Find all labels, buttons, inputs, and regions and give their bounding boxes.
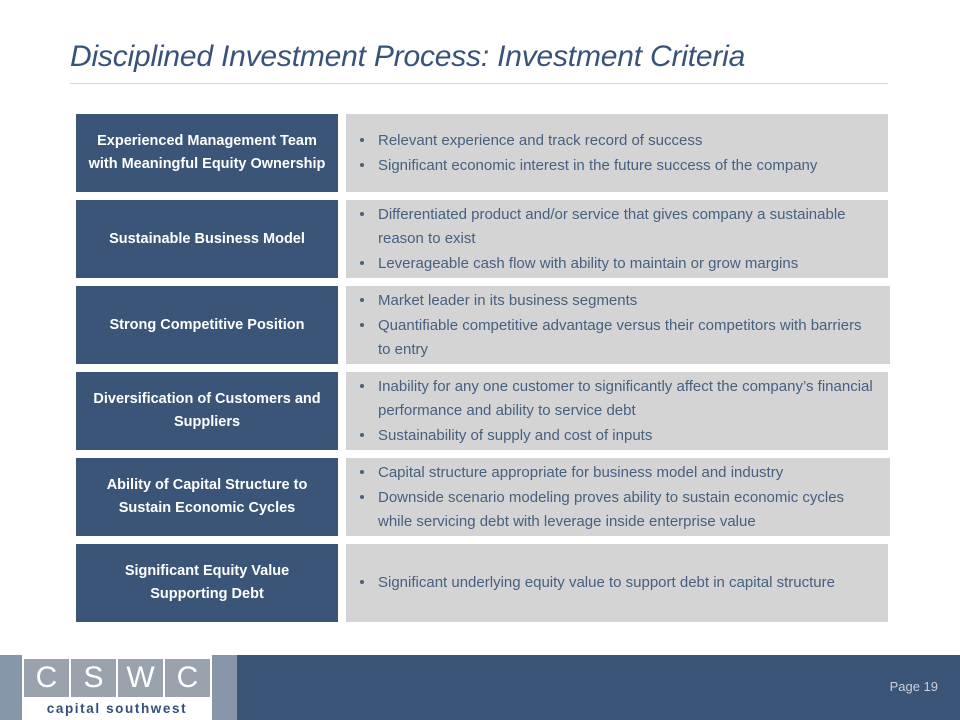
row-gap [338, 286, 346, 364]
page-number: Page 19 [890, 679, 938, 695]
criteria-label-sustainable-business-model: Sustainable Business Model [76, 200, 338, 278]
list-item-text: Relevant experience and track record of … [378, 132, 702, 149]
title-divider [70, 83, 888, 84]
criteria-label-capital-structure: Ability of Capital Structure to Sustain … [76, 458, 338, 536]
bullet-dot-icon [360, 495, 364, 499]
list-item-text: Market leader in its business segments [378, 292, 637, 309]
criteria-details-sustainable-business-model: Differentiated product and/or service th… [346, 200, 888, 278]
list-item: Significant underlying equity value to s… [356, 571, 874, 595]
table-row: Diversification of Customers and Supplie… [76, 372, 888, 450]
list-item-text: Inability for any one customer to signif… [378, 378, 873, 419]
list-item: Differentiated product and/or service th… [356, 203, 874, 251]
investment-criteria-table: Experienced Management Team with Meaning… [76, 114, 888, 622]
criteria-details-strong-competitive-position: Market leader in its business segments Q… [346, 286, 890, 364]
logo-letter-boxes: C S W C [22, 657, 212, 699]
list-item: Significant economic interest in the fut… [356, 154, 874, 178]
table-row: Significant Equity Value Supporting Debt… [76, 544, 888, 622]
criteria-details-significant-equity-value: Significant underlying equity value to s… [346, 544, 888, 622]
logo-tagline: capital southwest [22, 700, 212, 718]
list-item-text: Capital structure appropriate for busine… [378, 464, 783, 481]
bullet-dot-icon [360, 580, 364, 584]
page-title: Disciplined Investment Process: Investme… [70, 36, 888, 78]
list-item-text: Significant underlying equity value to s… [378, 574, 835, 591]
list-item-text: Differentiated product and/or service th… [378, 206, 846, 247]
list-item: Capital structure appropriate for busine… [356, 461, 876, 485]
table-row: Strong Competitive Position Market leade… [76, 286, 888, 364]
table-row: Ability of Capital Structure to Sustain … [76, 458, 888, 536]
logo-letter-w: W [118, 659, 165, 697]
logo-letter-c2: C [165, 659, 210, 697]
list-item: Sustainability of supply and cost of inp… [356, 424, 874, 448]
table-row: Sustainable Business Model Differentiate… [76, 200, 888, 278]
slide-header: Disciplined Investment Process: Investme… [70, 36, 888, 84]
footer-navy-band: Page 19 [237, 655, 960, 720]
cswc-logo: C S W C capital southwest [22, 655, 212, 720]
criteria-details-experienced-management: Relevant experience and track record of … [346, 114, 888, 192]
row-gap [338, 544, 346, 622]
bullet-dot-icon [360, 138, 364, 142]
bullet-dot-icon [360, 298, 364, 302]
slide-footer: Page 19 C S W C capital southwest [0, 655, 960, 720]
row-gap [338, 372, 346, 450]
list-item: Relevant experience and track record of … [356, 129, 874, 153]
row-gap [338, 458, 346, 536]
criteria-label-experienced-management: Experienced Management Team with Meaning… [76, 114, 338, 192]
criteria-details-capital-structure: Capital structure appropriate for busine… [346, 458, 890, 536]
list-item-text: Leverageable cash flow with ability to m… [378, 255, 798, 272]
bullet-dot-icon [360, 261, 364, 265]
criteria-label-diversification: Diversification of Customers and Supplie… [76, 372, 338, 450]
list-item-text: Quantifiable competitive advantage versu… [378, 317, 862, 358]
list-item: Leverageable cash flow with ability to m… [356, 252, 874, 276]
list-item-text: Significant economic interest in the fut… [378, 157, 817, 174]
list-item-text: Sustainability of supply and cost of inp… [378, 427, 652, 444]
row-gap [338, 200, 346, 278]
bullet-dot-icon [360, 163, 364, 167]
bullet-dot-icon [360, 323, 364, 327]
criteria-label-significant-equity-value: Significant Equity Value Supporting Debt [76, 544, 338, 622]
bullet-dot-icon [360, 470, 364, 474]
criteria-details-diversification: Inability for any one customer to signif… [346, 372, 888, 450]
bullet-dot-icon [360, 384, 364, 388]
row-gap [338, 114, 346, 192]
list-item: Quantifiable competitive advantage versu… [356, 314, 876, 362]
bullet-dot-icon [360, 212, 364, 216]
bullet-dot-icon [360, 433, 364, 437]
logo-letter-s: S [71, 659, 118, 697]
list-item: Market leader in its business segments [356, 289, 876, 313]
list-item: Downside scenario modeling proves abilit… [356, 486, 876, 534]
logo-letter-c1: C [24, 659, 71, 697]
list-item: Inability for any one customer to signif… [356, 375, 874, 423]
list-item-text: Downside scenario modeling proves abilit… [378, 489, 844, 530]
table-row: Experienced Management Team with Meaning… [76, 114, 888, 192]
criteria-label-strong-competitive-position: Strong Competitive Position [76, 286, 338, 364]
